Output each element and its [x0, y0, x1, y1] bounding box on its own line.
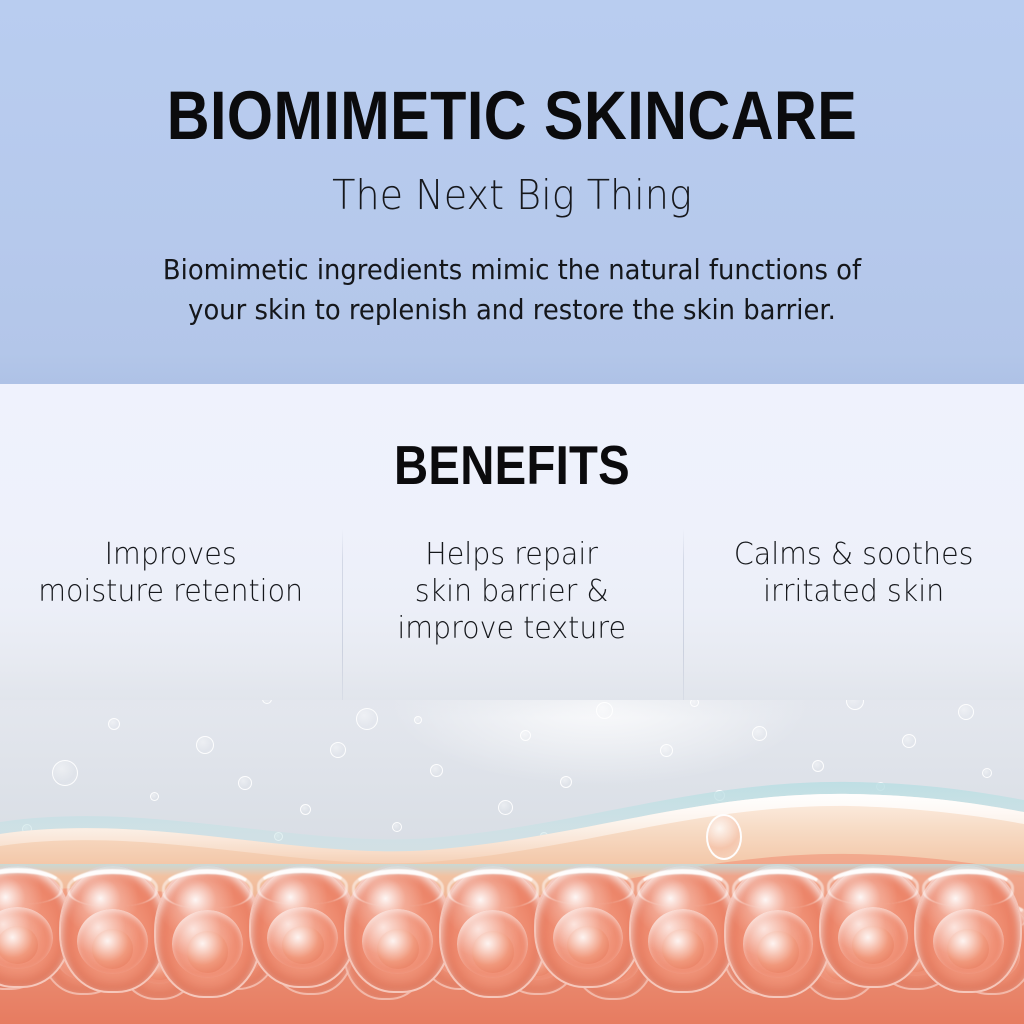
- skin-barrier-image: [0, 672, 1024, 1024]
- skin-cell: [344, 864, 452, 993]
- cell-row-front: [0, 864, 1024, 998]
- benefit-2-line-3: improve texture: [363, 610, 661, 647]
- cell-nucleus: [377, 929, 419, 969]
- cell-highlight: [162, 869, 254, 908]
- intro-line-1: Biomimetic ingredients mimic the natural…: [89, 250, 935, 290]
- skin-cell: [724, 864, 832, 998]
- benefits-columns: Improves moisture retention Helps repair…: [0, 536, 1024, 647]
- cell-nucleus: [662, 929, 704, 969]
- cell-highlight: [542, 868, 634, 904]
- cell-nucleus: [947, 929, 989, 969]
- cell-highlight: [732, 869, 824, 908]
- poster: BIOMIMETIC SKINCARE The Next Big Thing B…: [0, 0, 1024, 1024]
- cell-nucleus: [92, 929, 134, 969]
- header-section: BIOMIMETIC SKINCARE The Next Big Thing B…: [0, 0, 1024, 384]
- page-subtitle: The Next Big Thing: [36, 170, 988, 220]
- cell-nucleus: [282, 926, 324, 964]
- cell-nucleus: [852, 926, 894, 964]
- skin-cell: [154, 864, 262, 998]
- cell-highlight: [352, 869, 444, 907]
- skin-cell: [914, 864, 1022, 993]
- benefit-3-line-1: Calms & soothes: [704, 536, 1002, 573]
- skin-cell: [249, 864, 357, 988]
- intro-line-2: your skin to replenish and restore the s…: [89, 290, 935, 330]
- cell-nucleus: [567, 926, 609, 964]
- benefit-text-1: Improves moisture retention: [22, 536, 320, 610]
- benefit-text-2: Helps repair skin barrier & improve text…: [363, 536, 661, 647]
- benefit-column-2: Helps repair skin barrier & improve text…: [341, 536, 682, 647]
- cell-highlight: [257, 868, 349, 904]
- benefit-text-3: Calms & soothes irritated skin: [704, 536, 1002, 610]
- cell-highlight: [922, 869, 1014, 907]
- cell-highlight: [67, 869, 159, 907]
- cell-highlight: [827, 868, 919, 904]
- page-title: BIOMIMETIC SKINCARE: [72, 80, 953, 152]
- benefit-1-line-1: Improves: [22, 536, 320, 573]
- benefit-column-1: Improves moisture retention: [0, 536, 341, 647]
- benefit-column-3: Calms & soothes irritated skin: [683, 536, 1024, 647]
- skin-cell: [439, 864, 547, 998]
- skin-cell: [629, 864, 737, 993]
- intro-paragraph: Biomimetic ingredients mimic the natural…: [89, 250, 935, 330]
- benefit-2-line-2: skin barrier &: [363, 573, 661, 610]
- benefits-heading: BENEFITS: [72, 436, 953, 494]
- benefit-3-line-2: irritated skin: [704, 573, 1002, 610]
- cell-highlight: [637, 869, 729, 907]
- cell-cluster: [0, 864, 1024, 1024]
- cell-nucleus: [472, 931, 514, 973]
- skin-cell: [59, 864, 167, 993]
- cell-nucleus: [187, 931, 229, 973]
- cell-nucleus: [0, 926, 38, 964]
- skin-cell: [534, 864, 642, 988]
- benefit-2-line-1: Helps repair: [363, 536, 661, 573]
- cell-nucleus: [757, 931, 799, 973]
- benefits-section: BENEFITS Improves moisture retention Hel…: [0, 384, 1024, 700]
- cell-highlight: [447, 869, 539, 908]
- benefit-1-line-2: moisture retention: [22, 573, 320, 610]
- skin-cell: [819, 864, 927, 988]
- droplet-icon: [706, 814, 742, 860]
